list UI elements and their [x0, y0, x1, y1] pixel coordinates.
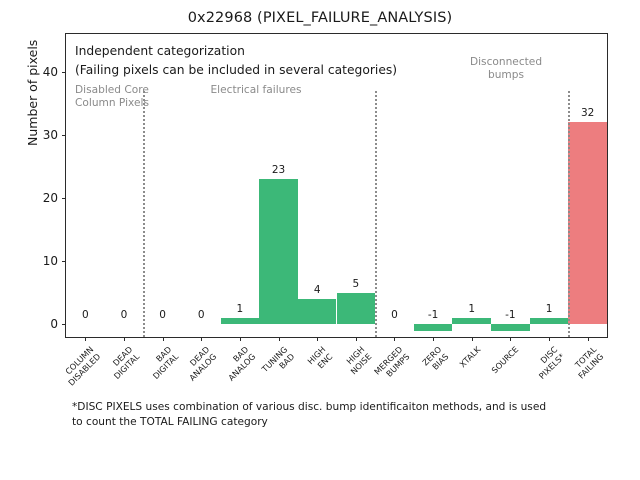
bar [530, 318, 569, 324]
annotation-electrical-failures: Electrical failures [210, 84, 301, 97]
bar-value-label: -1 [428, 309, 438, 321]
annotation-disabled-core-line2: Column Pixels [75, 97, 149, 110]
bar-value-label: 0 [159, 309, 166, 321]
bar-value-label: 0 [121, 309, 128, 321]
category-divider [143, 91, 145, 337]
x-tick-mark [510, 337, 511, 341]
bar-value-label: 0 [82, 309, 89, 321]
x-tick-label: MERGEDBUMPS [373, 345, 412, 384]
plot-area: Number of pixels 010203040 COLUMNDISABLE… [65, 33, 608, 338]
chart-title: 0x22968 (PIXEL_FAILURE_ANALYSIS) [0, 10, 640, 26]
bar [414, 324, 453, 330]
x-tick-mark [549, 337, 550, 341]
x-tick-mark [394, 337, 395, 341]
bar [568, 122, 607, 324]
annotation-disconnected-bumps-line2: bumps [488, 69, 524, 82]
x-tick-mark [317, 337, 318, 341]
x-tick-label: BADDIGITAL [144, 345, 180, 381]
x-tick-label: HIGHNOISE [342, 345, 373, 376]
bar-value-label: 1 [237, 303, 244, 315]
x-tick-mark [279, 337, 280, 341]
x-tick-mark [588, 337, 589, 341]
x-tick-mark [240, 337, 241, 341]
bar [221, 318, 260, 324]
category-divider [568, 91, 570, 337]
x-tick-mark [163, 337, 164, 341]
x-tick-mark [124, 337, 125, 341]
x-tick-mark [85, 337, 86, 341]
x-tick-label: XTALK [458, 345, 483, 370]
x-tick-mark [472, 337, 473, 341]
annotation-disabled-core-line1: Disabled Core [75, 84, 149, 97]
y-axis-label: Number of pixels [25, 40, 40, 146]
bar [337, 293, 376, 325]
x-tick-label-line: SOURCE [490, 345, 521, 376]
y-tick-mark [62, 324, 66, 325]
x-tick-label: TOTALFAILING [569, 345, 605, 381]
x-tick-mark [201, 337, 202, 341]
bar-value-label: 1 [468, 303, 475, 315]
bar-value-label: 4 [314, 284, 321, 296]
bar [491, 324, 530, 330]
x-tick-label: TUNINGBAD [260, 345, 296, 381]
bar [298, 299, 337, 324]
y-tick-label: 30 [43, 128, 58, 142]
category-divider [375, 91, 377, 337]
x-tick-label: ZEROBIAS [421, 345, 451, 375]
bar-value-label: 5 [352, 278, 359, 290]
bar [259, 179, 298, 324]
bar-value-label: 0 [391, 309, 398, 321]
footnote-line-1: *DISC PIXELS uses combination of various… [72, 400, 592, 415]
x-tick-label: DEADDIGITAL [105, 345, 141, 381]
x-tick-label: COLUMNDISABLED [60, 345, 103, 388]
y-tick-mark [62, 72, 66, 73]
y-tick-label: 0 [50, 317, 58, 331]
y-tick-mark [62, 261, 66, 262]
x-tick-label: HIGHENC [306, 345, 334, 373]
x-tick-mark [356, 337, 357, 341]
footnote-line-2: to count the TOTAL FAILING category [72, 415, 592, 430]
x-tick-label-line: XTALK [458, 345, 483, 370]
bar-value-label: -1 [505, 309, 515, 321]
x-tick-mark [433, 337, 434, 341]
y-tick-label: 20 [43, 191, 58, 205]
chart-figure: 0x22968 (PIXEL_FAILURE_ANALYSIS) Number … [0, 0, 640, 480]
x-tick-label: SOURCE [490, 345, 521, 376]
bar-value-label: 1 [546, 303, 553, 315]
x-tick-label: DISCPIXELS* [530, 345, 566, 381]
annotation-disconnected-bumps-line1: Disconnected [470, 56, 542, 69]
y-tick-mark [62, 198, 66, 199]
footnote: *DISC PIXELS uses combination of various… [72, 400, 592, 429]
x-tick-label: DEADANALOG [181, 345, 219, 383]
bar-value-label: 32 [581, 107, 594, 119]
plot-inner: Number of pixels 010203040 COLUMNDISABLE… [66, 34, 607, 337]
x-tick-label: BADANALOG [220, 345, 258, 383]
bar-value-label: 23 [272, 164, 285, 176]
bar [452, 318, 491, 324]
bar-value-label: 0 [198, 309, 205, 321]
annotation-independent-categorization: Independent categorization [75, 43, 245, 60]
y-tick-mark [62, 135, 66, 136]
y-tick-label: 10 [43, 254, 58, 268]
annotation-failing-pixels-note: (Failing pixels can be included in sever… [75, 62, 397, 79]
y-tick-label: 40 [43, 65, 58, 79]
